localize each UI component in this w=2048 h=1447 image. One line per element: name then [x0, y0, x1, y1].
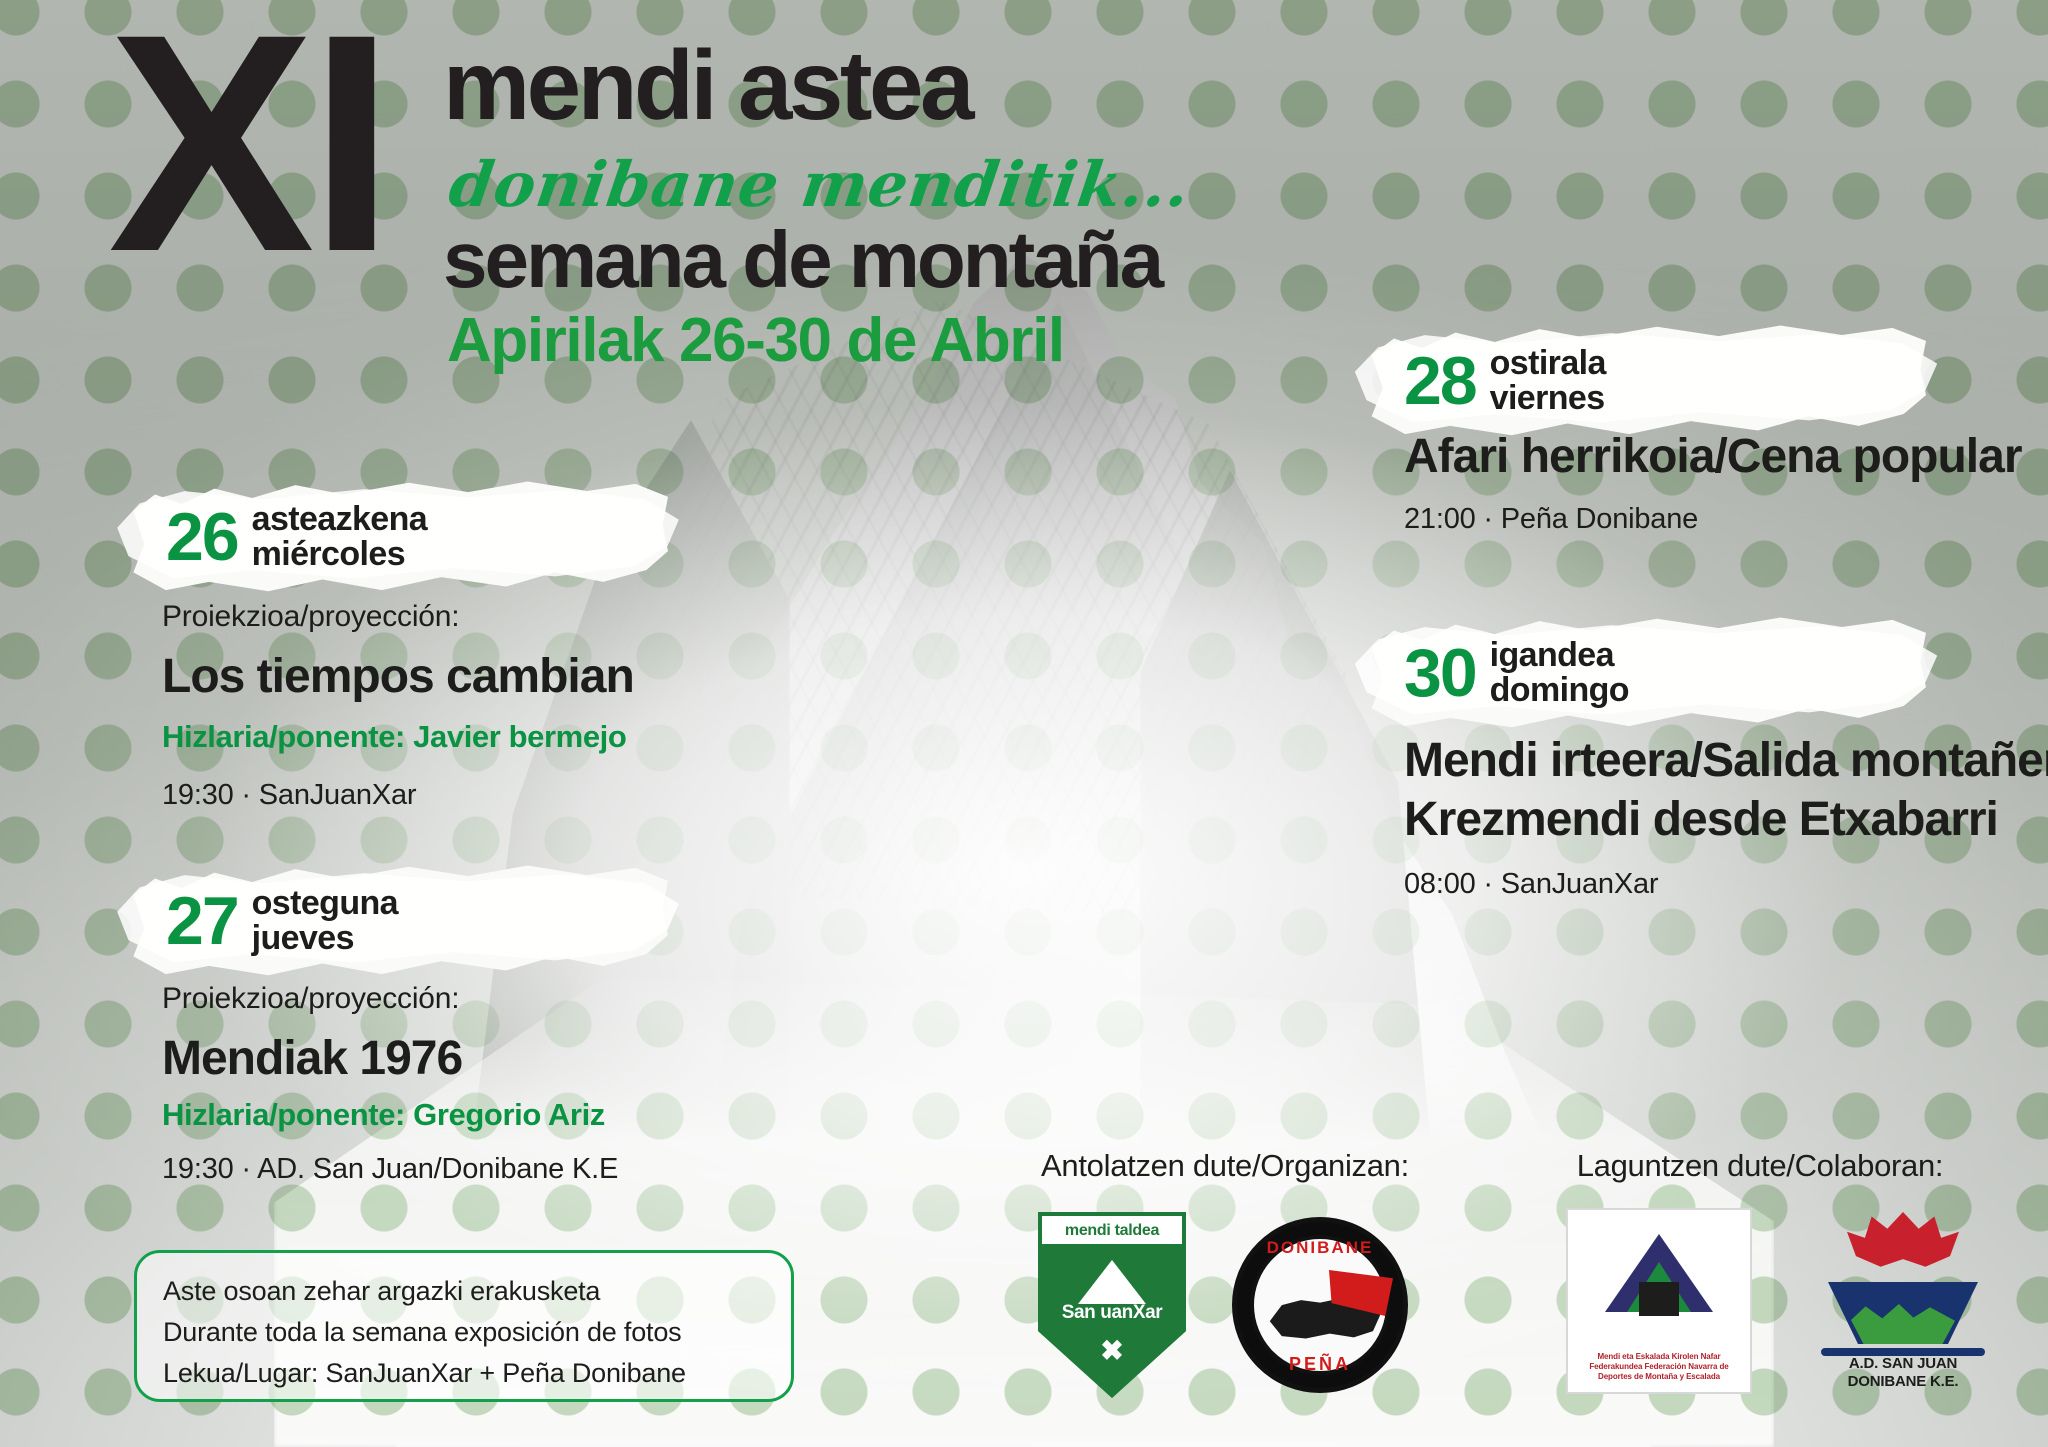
- event-time-26: 19:30 · SanJuanXar: [162, 779, 862, 812]
- book-icon: [1639, 1282, 1679, 1316]
- page-dates: Apirilak 26-30 de Abril: [447, 310, 1064, 372]
- logo-sanjuanxar-mendi-taldea: mendi taldea San uanXar ✖: [1038, 1212, 1186, 1398]
- weekday-spanish-27: jueves: [252, 921, 398, 956]
- event-title-30-line2: Krezmendi desde Etxabarri: [1404, 795, 2048, 846]
- logo-penia-bottom-text: PEÑA: [1237, 1354, 1403, 1375]
- logo-ad-line1: A.D. SAN JUAN: [1849, 1355, 1957, 1372]
- logo-fnme-text: Mendi eta Eskalada Kirolen Nafar Federak…: [1574, 1352, 1744, 1382]
- weekday-spanish-28: viernes: [1490, 381, 1606, 416]
- logo-mendi-name-text: San uanXar: [1042, 1302, 1182, 1324]
- event-kicker-26: Proiekzioa/proyección:: [162, 600, 862, 634]
- day-number-27: 27: [166, 887, 238, 955]
- event-speaker-27: Hizlaria/ponente: Gregorio Ariz: [162, 1097, 882, 1133]
- organizers-heading: Antolatzen dute/Organizan:: [1035, 1148, 1415, 1184]
- logo-mendi-band-text: mendi taldea: [1042, 1216, 1182, 1244]
- page-title-edition: XI: [108, 22, 389, 264]
- day-number-28: 28: [1404, 347, 1476, 415]
- weekday-spanish-26: miércoles: [252, 537, 427, 572]
- logo-federacion-navarra: Mendi eta Eskalada Kirolen Nafar Federak…: [1566, 1208, 1752, 1394]
- event-time-27: 19:30 · AD. San Juan/Donibane K.E: [162, 1153, 882, 1186]
- day-badge-26: 26 asteazkena miércoles: [128, 478, 668, 596]
- event-time-28: 21:00 · Peña Donibane: [1404, 503, 2048, 536]
- note-line-1: Aste osoan zehar argazki erakusketa: [163, 1271, 765, 1312]
- logo-penia-top-text: DONIBANE: [1237, 1238, 1403, 1258]
- event-title-30: Mendi irteera/Salida montañera: [1404, 736, 2048, 787]
- poster-root: XI mendi astea donibane menditik... sema…: [0, 0, 2048, 1447]
- weekday-basque-30: igandea: [1490, 638, 1629, 673]
- weekday-basque-27: osteguna: [252, 886, 398, 921]
- logo-ad-san-juan-donibane: A.D. SAN JUAN DONIBANE K.E.: [1800, 1208, 2006, 1394]
- weekday-basque-28: ostirala: [1490, 346, 1606, 381]
- day-number-30: 30: [1404, 639, 1476, 707]
- logo-ad-line2: DONIBANE K.E.: [1848, 1373, 1959, 1390]
- event-title-27: Mendiak 1976: [162, 1034, 882, 1085]
- day-badge-30: 30 igandea domingo: [1366, 614, 1926, 732]
- exhibition-note-box: Aste osoan zehar argazki erakusketa Dura…: [134, 1250, 794, 1402]
- logo-ad-text: A.D. SAN JUAN DONIBANE K.E.: [1800, 1355, 2006, 1393]
- page-tagline: donibane menditik...: [445, 148, 1195, 221]
- event-time-30: 08:00 · SanJuanXar: [1404, 868, 2048, 901]
- event-title-28: Afari herrikoia/Cena popular: [1404, 432, 2048, 483]
- logo-pena-donibane: DONIBANE PEÑA: [1232, 1217, 1408, 1393]
- collaborators-heading: Laguntzen dute/Colaboran:: [1540, 1148, 1980, 1184]
- crossed-axes-icon: ✖: [1100, 1334, 1123, 1367]
- day-badge-27: 27 osteguna jueves: [128, 862, 668, 980]
- note-line-2: Durante toda la semana exposición de fot…: [163, 1312, 765, 1353]
- day-badge-28: 28 ostirala viernes: [1366, 322, 1926, 440]
- event-speaker-26: Hizlaria/ponente: Javier bermejo: [162, 719, 862, 755]
- page-title-spanish: semana de montaña: [443, 220, 1161, 300]
- event-kicker-27: Proiekzioa/proyección:: [162, 982, 882, 1016]
- event-title-26: Los tiempos cambian: [162, 652, 862, 703]
- weekday-basque-26: asteazkena: [252, 502, 427, 537]
- day-number-26: 26: [166, 503, 238, 571]
- page-title-basque: mendi astea: [443, 36, 971, 134]
- note-line-3: Lekua/Lugar: SanJuanXar + Peña Donibane: [163, 1353, 765, 1394]
- weekday-spanish-30: domingo: [1490, 673, 1629, 708]
- flame-icon: [1847, 1212, 1959, 1288]
